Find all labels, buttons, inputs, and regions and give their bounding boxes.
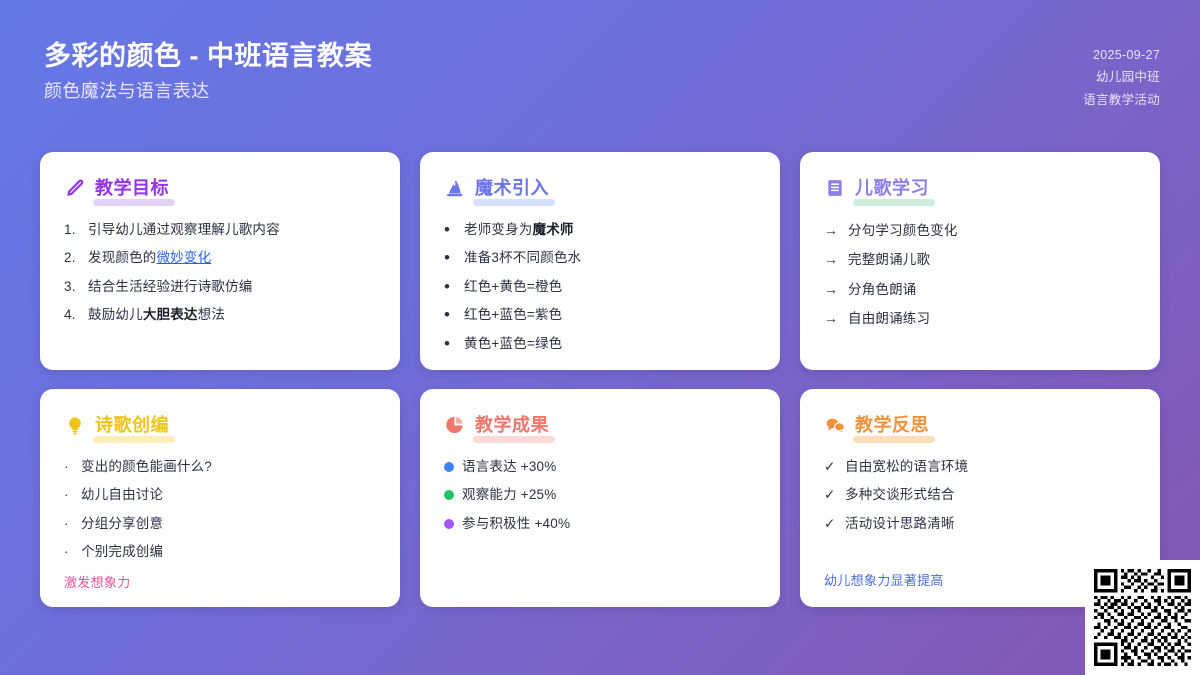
card-song-learning: 儿歌学习→分句学习颜色变化→完整朗诵儿歌→分角色朗诵→自由朗诵练习	[800, 152, 1160, 370]
list-marker: ·	[64, 542, 74, 562]
item-text-prefix: 分句学习颜色变化	[848, 223, 958, 238]
item-text-prefix: 结合生活经验进行诗歌仿编	[88, 279, 252, 294]
list-marker: 2.	[64, 248, 81, 268]
pie-chart-icon	[444, 414, 466, 436]
list-marker: 3.	[64, 277, 81, 297]
card-header: 诗歌创编	[64, 411, 376, 439]
item-text-prefix: 自由朗诵练习	[848, 311, 930, 326]
item-text-prefix: 红色+黄色=橙色	[464, 279, 562, 294]
list-item-text: 发现颜色的微妙变化	[88, 248, 211, 268]
list-item-text: 准备3杯不同颜色水	[464, 248, 581, 268]
list-item: →分角色朗诵	[824, 274, 1136, 304]
list-item: 观察能力 +25%	[444, 481, 756, 510]
item-text-prefix: 完整朗诵儿歌	[848, 252, 930, 267]
item-text-prefix: 自由宽松的语言环境	[845, 459, 968, 474]
card-title: 诗歌创编	[95, 411, 169, 439]
list-marker: 4.	[64, 305, 81, 325]
list-item: ·幼儿自由讨论	[64, 481, 376, 510]
list-item-text: 结合生活经验进行诗歌仿编	[88, 277, 252, 297]
card-item-list: 语言表达 +30%观察能力 +25%参与积极性 +40%	[444, 452, 756, 538]
item-text-prefix: 幼儿自由讨论	[81, 487, 163, 502]
meta-date: 2025-09-27	[1093, 46, 1160, 65]
list-item: 语言表达 +30%	[444, 452, 756, 481]
list-marker: ✓	[824, 514, 838, 534]
list-item: →分句学习颜色变化	[824, 215, 1136, 245]
list-item: 3.结合生活经验进行诗歌仿编	[64, 272, 376, 301]
list-item-text: 观察能力 +25%	[462, 485, 556, 505]
item-text-prefix: 变出的颜色能画什么?	[81, 459, 212, 474]
qr-code-icon	[1094, 569, 1191, 666]
list-item-text: 引导幼儿通过观察理解儿歌内容	[88, 220, 280, 240]
list-item-text: 自由宽松的语言环境	[845, 457, 968, 477]
list-item: 4.鼓励幼儿大胆表达想法	[64, 301, 376, 330]
list-marker: •	[444, 249, 457, 268]
card-title: 教学反思	[855, 411, 929, 439]
lightbulb-icon	[64, 414, 86, 436]
list-item-text: 变出的颜色能画什么?	[81, 457, 212, 477]
list-item: 参与积极性 +40%	[444, 509, 756, 538]
list-item: ·个别完成创编	[64, 538, 376, 567]
list-item: •黄色+蓝色=绿色	[444, 329, 756, 358]
color-swatch-icon	[444, 462, 454, 472]
item-text-prefix: 参与积极性 +40%	[462, 516, 570, 531]
list-marker: ·	[64, 457, 74, 477]
list-item-text: 语言表达 +30%	[462, 457, 556, 477]
list-item: •准备3杯不同颜色水	[444, 244, 756, 273]
list-marker: •	[444, 335, 457, 354]
list-item-text: 自由朗诵练习	[848, 309, 930, 329]
item-text-prefix: 个别完成创编	[81, 544, 163, 559]
list-marker: •	[444, 221, 457, 240]
header-meta-block: 2025-09-27 幼儿园中班 语言教学活动	[1083, 40, 1160, 110]
item-text-prefix: 分组分享创意	[81, 516, 163, 531]
qr-code-container[interactable]	[1085, 560, 1200, 675]
item-text-prefix: 老师变身为	[464, 222, 533, 237]
color-swatch-icon	[444, 519, 454, 529]
card-item-list: ✓自由宽松的语言环境✓多种交谈形式结合✓活动设计思路清晰	[824, 452, 1136, 538]
card-header: 教学反思	[824, 411, 1136, 439]
meta-class: 幼儿园中班	[1096, 68, 1160, 87]
card-magic-intro: 魔术引入•老师变身为魔术师•准备3杯不同颜色水•红色+黄色=橙色•红色+蓝色=紫…	[420, 152, 780, 370]
list-marker: •	[444, 306, 457, 325]
inline-bold: 魔术师	[533, 222, 574, 237]
item-text-prefix: 鼓励幼儿	[88, 307, 143, 322]
card-title: 教学目标	[95, 174, 169, 202]
item-text-prefix: 分角色朗诵	[848, 282, 917, 297]
list-item: •红色+蓝色=紫色	[444, 301, 756, 330]
card-item-list: ·变出的颜色能画什么?·幼儿自由讨论·分组分享创意·个别完成创编	[64, 452, 376, 566]
card-title: 魔术引入	[475, 174, 549, 202]
list-item-text: 红色+蓝色=紫色	[464, 305, 562, 325]
list-marker: →	[824, 220, 841, 240]
card-item-list: 1.引导幼儿通过观察理解儿歌内容2.发现颜色的微妙变化3.结合生活经验进行诗歌仿…	[64, 215, 376, 329]
list-item-text: 红色+黄色=橙色	[464, 277, 562, 297]
list-marker: ·	[64, 514, 74, 534]
color-swatch-icon	[444, 490, 454, 500]
list-marker: →	[824, 308, 841, 328]
inline-link[interactable]: 微妙变化	[157, 250, 212, 265]
list-item-text: 完整朗诵儿歌	[848, 250, 930, 270]
card-title: 教学成果	[475, 411, 549, 439]
list-item: 2.发现颜色的微妙变化	[64, 244, 376, 273]
card-header: 教学成果	[444, 411, 756, 439]
list-item: ·变出的颜色能画什么?	[64, 452, 376, 481]
meta-activity: 语言教学活动	[1083, 91, 1160, 110]
list-item: ✓多种交谈形式结合	[824, 481, 1136, 510]
page-header: 多彩的颜色 - 中班语言教案 颜色魔法与语言表达 2025-09-27 幼儿园中…	[0, 0, 1200, 140]
list-item-text: 活动设计思路清晰	[845, 514, 955, 534]
list-marker: →	[824, 279, 841, 299]
page-title: 多彩的颜色 - 中班语言教案	[44, 40, 372, 74]
list-item: ·分组分享创意	[64, 509, 376, 538]
list-item-text: 幼儿自由讨论	[81, 485, 163, 505]
list-item: ✓自由宽松的语言环境	[824, 452, 1136, 481]
list-marker: ✓	[824, 457, 838, 477]
card-teaching-results: 教学成果语言表达 +30%观察能力 +25%参与积极性 +40%	[420, 389, 780, 607]
item-text-prefix: 语言表达 +30%	[462, 459, 556, 474]
list-item-text: 分组分享创意	[81, 514, 163, 534]
item-text-prefix: 活动设计思路清晰	[845, 516, 955, 531]
book-icon	[824, 177, 846, 199]
header-title-block: 多彩的颜色 - 中班语言教案 颜色魔法与语言表达	[44, 40, 372, 103]
list-item: →完整朗诵儿歌	[824, 245, 1136, 275]
item-text-prefix: 多种交谈形式结合	[845, 487, 955, 502]
pencil-icon	[64, 177, 86, 199]
list-item-text: 老师变身为魔术师	[464, 220, 574, 240]
card-item-list: →分句学习颜色变化→完整朗诵儿歌→分角色朗诵→自由朗诵练习	[824, 215, 1136, 333]
list-marker: ✓	[824, 485, 838, 505]
list-marker: →	[824, 249, 841, 269]
list-item-text: 鼓励幼儿大胆表达想法	[88, 305, 225, 325]
item-text-prefix: 引导幼儿通过观察理解儿歌内容	[88, 222, 280, 237]
card-grid: 教学目标1.引导幼儿通过观察理解儿歌内容2.发现颜色的微妙变化3.结合生活经验进…	[40, 152, 1160, 607]
speech-bubbles-icon	[824, 414, 846, 436]
card-item-list: •老师变身为魔术师•准备3杯不同颜色水•红色+黄色=橙色•红色+蓝色=紫色•黄色…	[444, 215, 756, 358]
list-marker: 1.	[64, 220, 81, 240]
list-item-text: 多种交谈形式结合	[845, 485, 955, 505]
card-poem-creation: 诗歌创编·变出的颜色能画什么?·幼儿自由讨论·分组分享创意·个别完成创编激发想象…	[40, 389, 400, 607]
item-text-prefix: 发现颜色的	[88, 250, 157, 265]
item-text-prefix: 黄色+蓝色=绿色	[464, 336, 562, 351]
list-item-text: 个别完成创编	[81, 542, 163, 562]
list-item: ✓活动设计思路清晰	[824, 509, 1136, 538]
list-item: •红色+黄色=橙色	[444, 272, 756, 301]
list-marker: ·	[64, 485, 74, 505]
card-header: 魔术引入	[444, 174, 756, 202]
list-item-text: 分句学习颜色变化	[848, 221, 958, 241]
inline-bold: 大胆表达	[143, 307, 198, 322]
wizard-hat-icon	[444, 177, 466, 199]
list-item-text: 分角色朗诵	[848, 280, 917, 300]
item-text-suffix: 想法	[198, 307, 225, 322]
item-text-prefix: 准备3杯不同颜色水	[464, 250, 581, 265]
card-title: 儿歌学习	[855, 174, 929, 202]
list-item: →自由朗诵练习	[824, 304, 1136, 334]
card-header: 教学目标	[64, 174, 376, 202]
list-item: 1.引导幼儿通过观察理解儿歌内容	[64, 215, 376, 244]
list-marker: •	[444, 278, 457, 297]
card-header: 儿歌学习	[824, 174, 1136, 202]
item-text-prefix: 红色+蓝色=紫色	[464, 307, 562, 322]
item-text-prefix: 观察能力 +25%	[462, 487, 556, 502]
list-item: •老师变身为魔术师	[444, 215, 756, 244]
card-teaching-goals: 教学目标1.引导幼儿通过观察理解儿歌内容2.发现颜色的微妙变化3.结合生活经验进…	[40, 152, 400, 370]
list-item-text: 参与积极性 +40%	[462, 514, 570, 534]
card-note: 激发想象力	[64, 566, 376, 591]
list-item-text: 黄色+蓝色=绿色	[464, 334, 562, 354]
page-subtitle: 颜色魔法与语言表达	[44, 80, 372, 103]
